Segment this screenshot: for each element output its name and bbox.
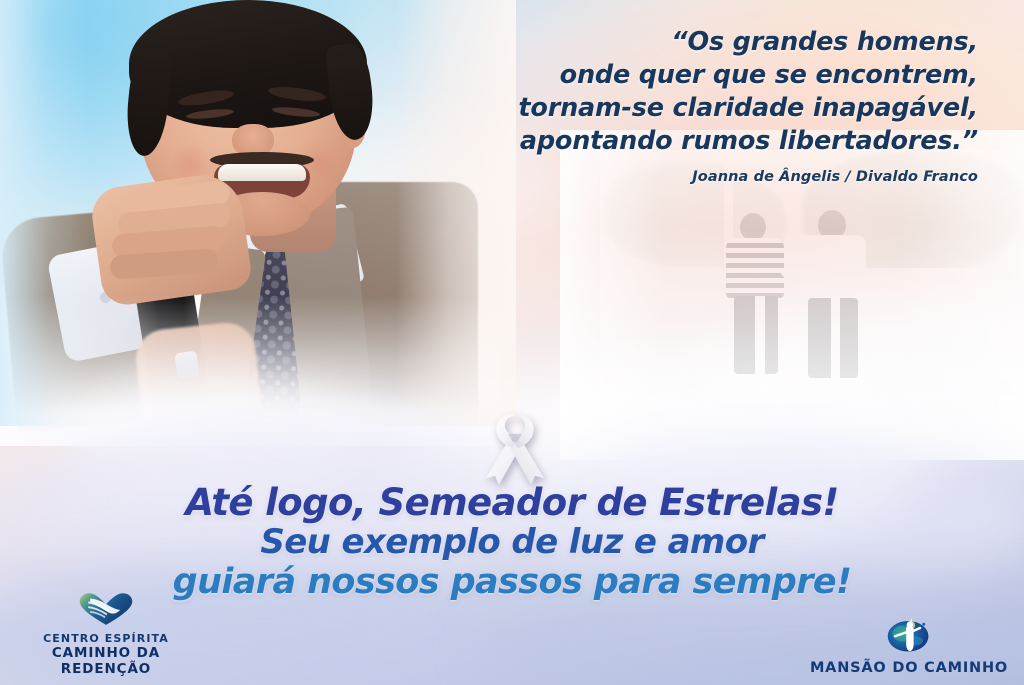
headline-block: Até logo, Semeador de Estrelas! Seu exem… — [0, 483, 1024, 602]
white-awareness-ribbon-icon — [478, 408, 552, 488]
portrait-photo — [0, 0, 470, 426]
quote-text: “Os grandes homens, onde quer que se enc… — [518, 26, 978, 158]
logo-centro-espirita: CENTRO ESPÍRITA CAMINHO DA REDENÇÃO — [6, 590, 206, 677]
logo-mansao-do-caminho: MANSÃO DO CAMINHO — [804, 613, 1014, 677]
heart-hands-logo-icon — [6, 590, 206, 630]
headline-line-2: Seu exemplo de luz e amor — [0, 523, 1024, 562]
quote-line-3: tornam-se claridade inapagável, — [518, 92, 978, 125]
quote-line-4: apontando rumos libertadores.” — [518, 125, 978, 158]
globe-figure-logo-icon — [804, 613, 1014, 658]
logo-right-line-1: MANSÃO DO CAMINHO — [804, 660, 1014, 677]
logo-left-line-2: CAMINHO DA REDENÇÃO — [6, 645, 206, 677]
quote-line-2: onde quer que se encontrem, — [518, 59, 978, 92]
quote-attribution: Joanna de Ângelis / Divaldo Franco — [692, 169, 978, 185]
quote-line-1: “Os grandes homens, — [518, 26, 978, 59]
memorial-poster: “Os grandes homens, onde quer que se enc… — [0, 0, 1024, 685]
logo-left-line-1: CENTRO ESPÍRITA — [6, 632, 206, 645]
headline-line-1: Até logo, Semeador de Estrelas! — [0, 483, 1024, 523]
